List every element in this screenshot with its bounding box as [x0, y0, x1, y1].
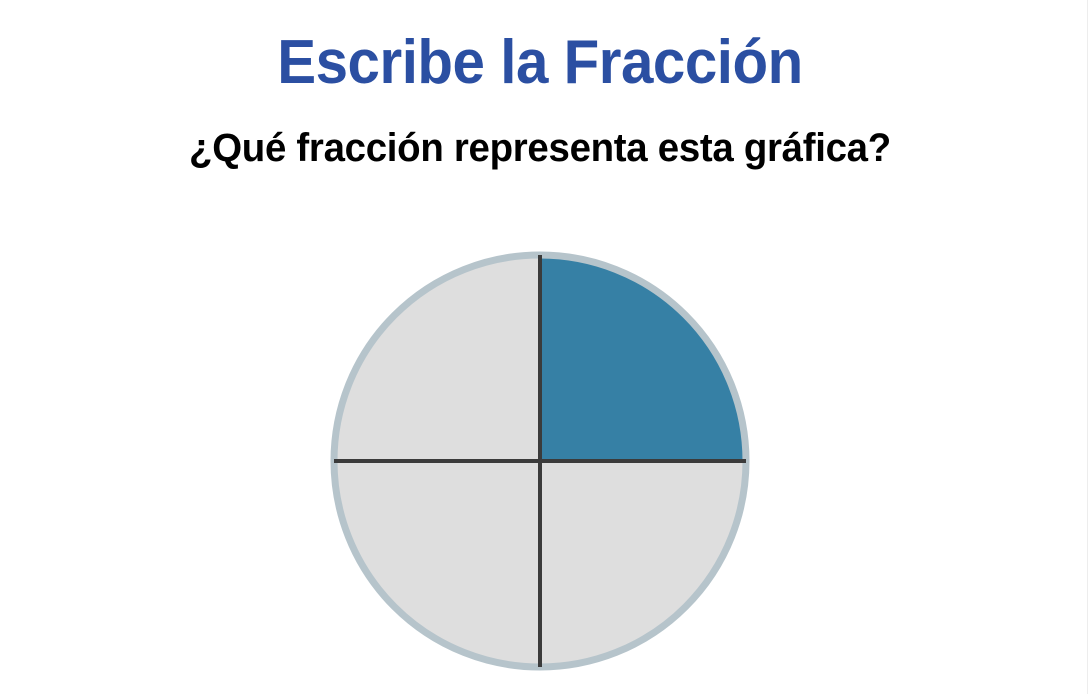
fraction-pie-chart — [330, 251, 750, 671]
pie-chart-svg — [330, 251, 750, 671]
question-prompt: ¿Qué fracción representa esta gráfica? — [22, 125, 1059, 171]
page-title: Escribe la Fracción — [32, 27, 1047, 99]
heading-block: Escribe la Fracción ¿Qué fracción repres… — [0, 0, 1080, 171]
worksheet-page: Escribe la Fracción ¿Qué fracción repres… — [0, 0, 1088, 694]
